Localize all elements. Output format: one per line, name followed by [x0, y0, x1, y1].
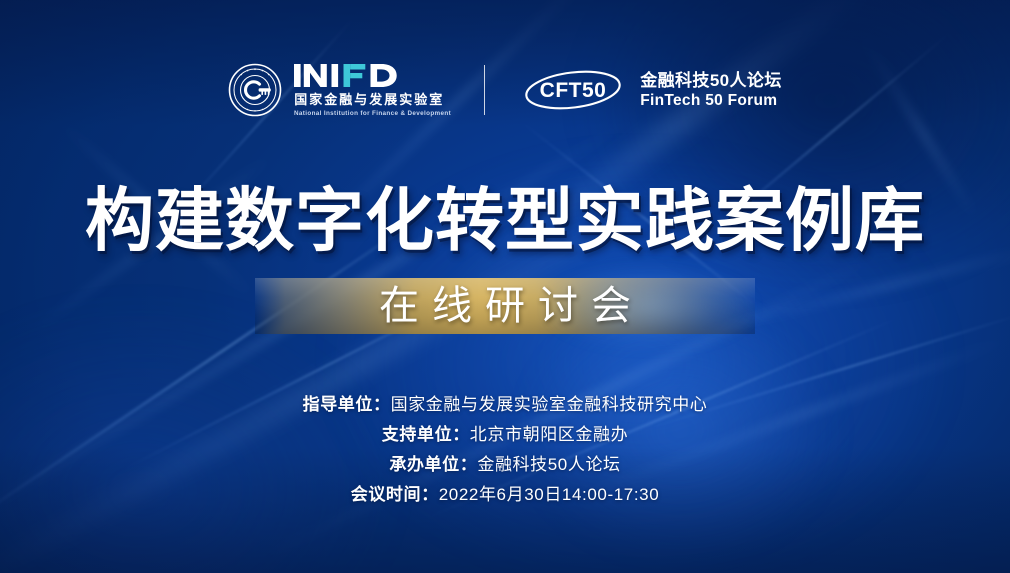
cft50-name-cn: 金融科技50人论坛	[640, 70, 782, 91]
info-line: 会议时间：2022年6月30日14:00-17:30	[0, 480, 1010, 510]
info-label: 支持单位：	[382, 425, 470, 444]
nifd-text-group: 国家金融与发展实验室 National Institution for Fina…	[294, 62, 448, 118]
nifd-logo: 国家金融与发展实验室 National Institution for Fina…	[228, 62, 448, 118]
info-label: 会议时间：	[351, 485, 439, 504]
cft50-text-group: 金融科技50人论坛 FinTech 50 Forum	[640, 70, 782, 111]
svg-text:CFT50: CFT50	[540, 79, 607, 102]
banner-label: 在线研讨会	[255, 278, 755, 334]
cft50-name-en: FinTech 50 Forum	[640, 91, 782, 111]
info-line: 指导单位：国家金融与发展实验室金融科技研究中心	[0, 390, 1010, 420]
logo-row: 国家金融与发展实验室 National Institution for Fina…	[0, 62, 1010, 118]
info-label: 承办单位：	[389, 455, 477, 474]
info-value: 国家金融与发展实验室金融科技研究中心	[391, 395, 708, 414]
cft50-logo: CFT50 金融科技50人论坛 FinTech 50 Forum	[521, 68, 782, 112]
event-poster: 国家金融与发展实验室 National Institution for Fina…	[0, 0, 1010, 573]
nifd-wordmark-icon	[294, 62, 448, 89]
event-info-block: 指导单位：国家金融与发展实验室金融科技研究中心 支持单位：北京市朝阳区金融办 承…	[0, 390, 1010, 510]
info-value: 2022年6月30日14:00-17:30	[439, 485, 660, 504]
info-label: 指导单位：	[303, 395, 391, 414]
info-value: 金融科技50人论坛	[477, 455, 620, 474]
vertical-divider-icon	[484, 65, 485, 115]
info-line: 承办单位：金融科技50人论坛	[0, 450, 1010, 480]
subtitle-banner: 在线研讨会	[255, 278, 755, 334]
page-title: 构建数字化转型实践案例库	[0, 181, 1010, 261]
cft50-ellipse-mark-icon: CFT50	[521, 68, 625, 112]
info-value: 北京市朝阳区金融办	[470, 425, 628, 444]
info-line: 支持单位：北京市朝阳区金融办	[0, 420, 1010, 450]
nifd-name-cn: 国家金融与发展实验室	[294, 92, 448, 108]
nifd-name-en: National Institution for Finance & Devel…	[294, 109, 451, 118]
nifd-circular-emblem-icon	[228, 63, 282, 117]
